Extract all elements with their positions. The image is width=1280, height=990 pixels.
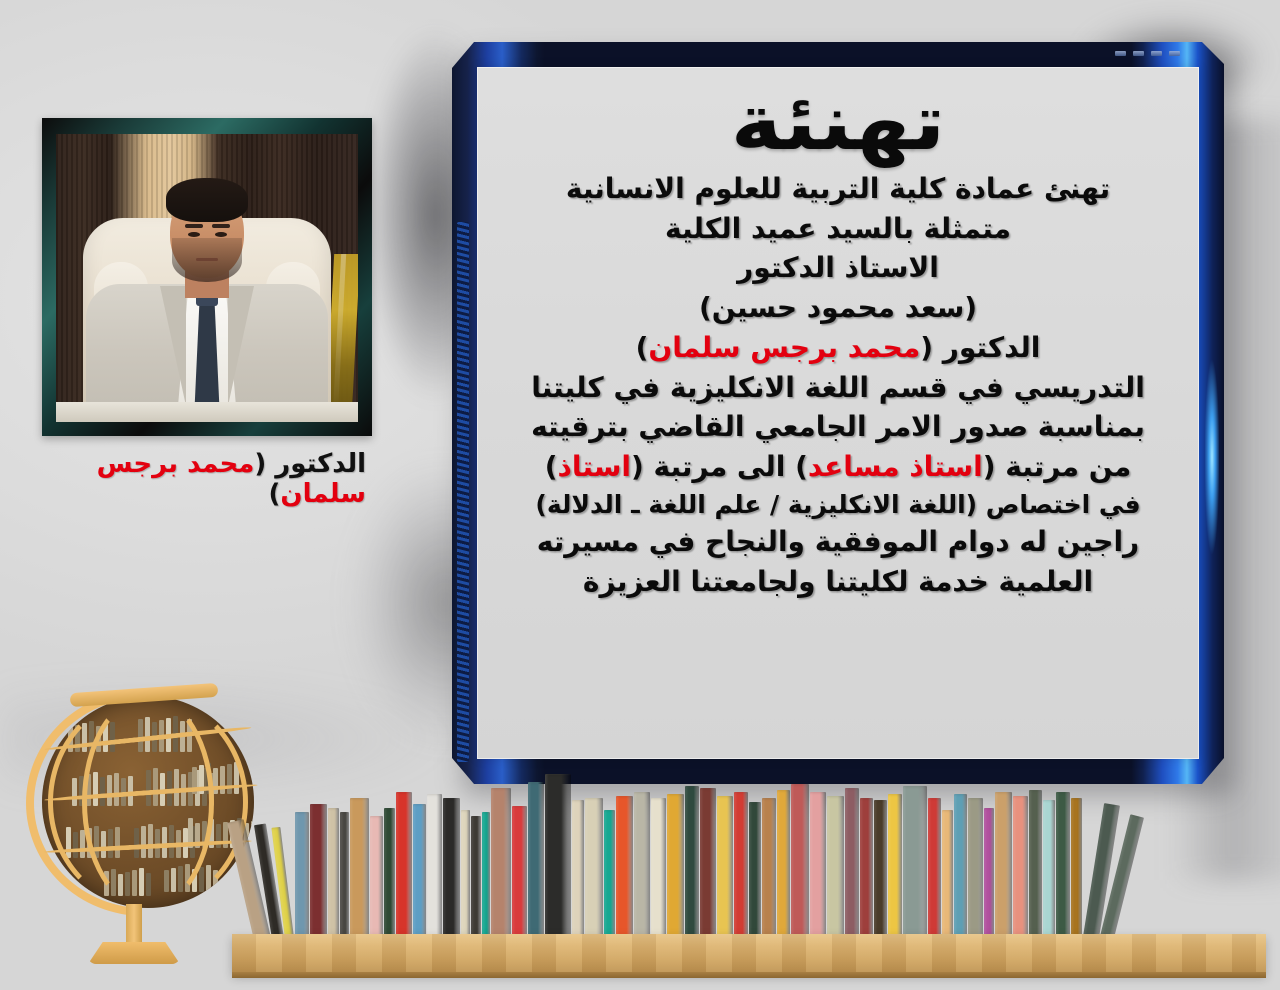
book-spine <box>762 798 776 938</box>
book-spine <box>328 808 339 938</box>
book-spine <box>968 798 983 938</box>
eyebrow-right <box>212 224 230 228</box>
book-spine <box>634 792 650 938</box>
frame-hatch-texture-left <box>457 222 469 762</box>
card-line-7: راجين له دوام الموفقية والنجاح في مسيرته <box>495 522 1181 562</box>
portrait-block: الدكتور (محمد برجس سلمان) <box>42 118 372 510</box>
book-spine <box>1013 796 1028 938</box>
honoree-prefix: الدكتور ( <box>920 331 1040 364</box>
wooden-shelf-plank <box>232 934 1266 974</box>
globe-base <box>88 942 180 964</box>
suit-lapel-right <box>228 286 254 406</box>
book-spine <box>954 794 967 938</box>
card-line-4: (سعد محمود حسين) <box>495 288 1181 328</box>
promotion-suffix: ) <box>545 450 558 483</box>
book-spine <box>845 788 859 938</box>
book-spine <box>1071 798 1082 938</box>
book-spine <box>604 810 615 938</box>
book-spine <box>651 798 666 938</box>
portrait-photo <box>56 134 358 422</box>
card-content-area: تهنئة تهنئ عمادة كلية التربية للعلوم الا… <box>477 67 1199 759</box>
eyebrow-left <box>185 224 203 228</box>
portrait-caption: الدكتور (محمد برجس سلمان) <box>42 450 372 510</box>
book-spine <box>545 774 571 938</box>
card-honoree-line: الدكتور (محمد برجس سلمان) <box>495 328 1181 368</box>
book-spines <box>254 768 1250 938</box>
book-spine <box>827 796 844 938</box>
frame-dot-3 <box>1151 51 1162 56</box>
book-spine <box>734 792 748 938</box>
card-line-8: العلمية خدمة لكليتنا ولجامعتنا العزيزة <box>495 562 1181 602</box>
book-spine <box>310 804 327 938</box>
honoree-suffix: ) <box>636 331 649 364</box>
book-spine <box>874 800 887 938</box>
book-spine <box>396 792 412 938</box>
book-spine <box>512 806 527 938</box>
promotion-to-rank: استاذ <box>558 450 631 483</box>
card-line-6: بمناسبة صدور الامر الجامعي القاضي بترقيت… <box>495 407 1181 447</box>
frame-dot-4 <box>1169 51 1180 56</box>
suit-lapel-left <box>160 286 186 406</box>
portrait-caption-prefix: الدكتور ( <box>254 449 366 479</box>
promotion-from-rank: استاذ مساعد <box>808 450 983 483</box>
book-spine <box>461 810 470 938</box>
frame-dot-2 <box>1133 51 1144 56</box>
shelf-front-lip <box>232 972 1266 978</box>
card-specialty-line: في اختصاص (اللغة الانكليزية / علم اللغة … <box>495 487 1181 523</box>
book-spine <box>384 808 395 938</box>
book-spine <box>810 792 826 938</box>
card-body-text: تهنئ عمادة كلية التربية للعلوم الانسانية… <box>477 167 1199 602</box>
book-spine <box>491 788 511 938</box>
book-spine <box>482 812 490 938</box>
book-spine <box>700 788 716 938</box>
card-line-2: متمثلة بالسيد عميد الكلية <box>495 209 1181 249</box>
honoree-name: محمد برجس سلمان <box>648 331 920 364</box>
book-spine <box>888 794 902 938</box>
book-spine <box>685 786 699 938</box>
frame-dot-decor <box>1115 51 1180 56</box>
book-spine <box>528 782 544 938</box>
frame-dot-1 <box>1115 51 1126 56</box>
book-spine <box>585 798 603 938</box>
portrait-caption-suffix: ) <box>269 479 281 509</box>
congratulation-poster: الدكتور (محمد برجس سلمان) تهنئة تهنئ عما… <box>0 0 1280 990</box>
eye-right <box>215 232 227 237</box>
hair <box>166 178 248 222</box>
promotion-middle: ) الى مرتبة ( <box>631 450 808 483</box>
book-spine <box>749 802 761 938</box>
book-spine <box>471 816 481 938</box>
globe-ring-2 <box>82 694 214 910</box>
book-spine <box>350 798 369 938</box>
book-spine <box>791 784 809 938</box>
book-spine <box>427 794 442 938</box>
book-spine <box>717 796 733 938</box>
book-spine <box>1029 790 1042 938</box>
book-spine <box>370 816 383 938</box>
book-row-shelf <box>232 768 1266 978</box>
book-spine <box>413 804 426 938</box>
book-spine <box>295 812 309 938</box>
card-line-5: التدريسي في قسم اللغة الانكليزية في كليت… <box>495 368 1181 408</box>
book-spine <box>340 812 349 938</box>
congratulation-card: تهنئة تهنئ عمادة كلية التربية للعلوم الا… <box>452 42 1224 784</box>
book-spine <box>928 798 941 938</box>
card-heading-calligraphy: تهنئة <box>477 83 1199 165</box>
mouth <box>196 258 218 261</box>
eye-left <box>188 232 200 237</box>
card-line-3: الاستاذ الدكتور <box>495 248 1181 288</box>
book-spine <box>995 792 1012 938</box>
card-line-1: تهنئ عمادة كلية التربية للعلوم الانسانية <box>495 169 1181 209</box>
book-spine <box>942 810 953 938</box>
book-spine <box>1043 800 1055 938</box>
desk-edge <box>56 402 358 422</box>
book-spine <box>903 786 927 938</box>
book-spine <box>667 794 684 938</box>
book-spine <box>1056 792 1070 938</box>
portrait-frame <box>42 118 372 436</box>
book-spine <box>777 790 790 938</box>
book-spine <box>443 798 460 938</box>
card-promotion-line: من مرتبة (استاذ مساعد) الى مرتبة (استاذ) <box>495 447 1181 487</box>
book-spine <box>860 798 873 938</box>
book-spine <box>984 808 994 938</box>
promotion-prefix: من مرتبة ( <box>983 450 1132 483</box>
book-spine <box>616 796 633 938</box>
frame-highlight-right <box>1205 342 1219 572</box>
book-spine <box>572 800 584 938</box>
